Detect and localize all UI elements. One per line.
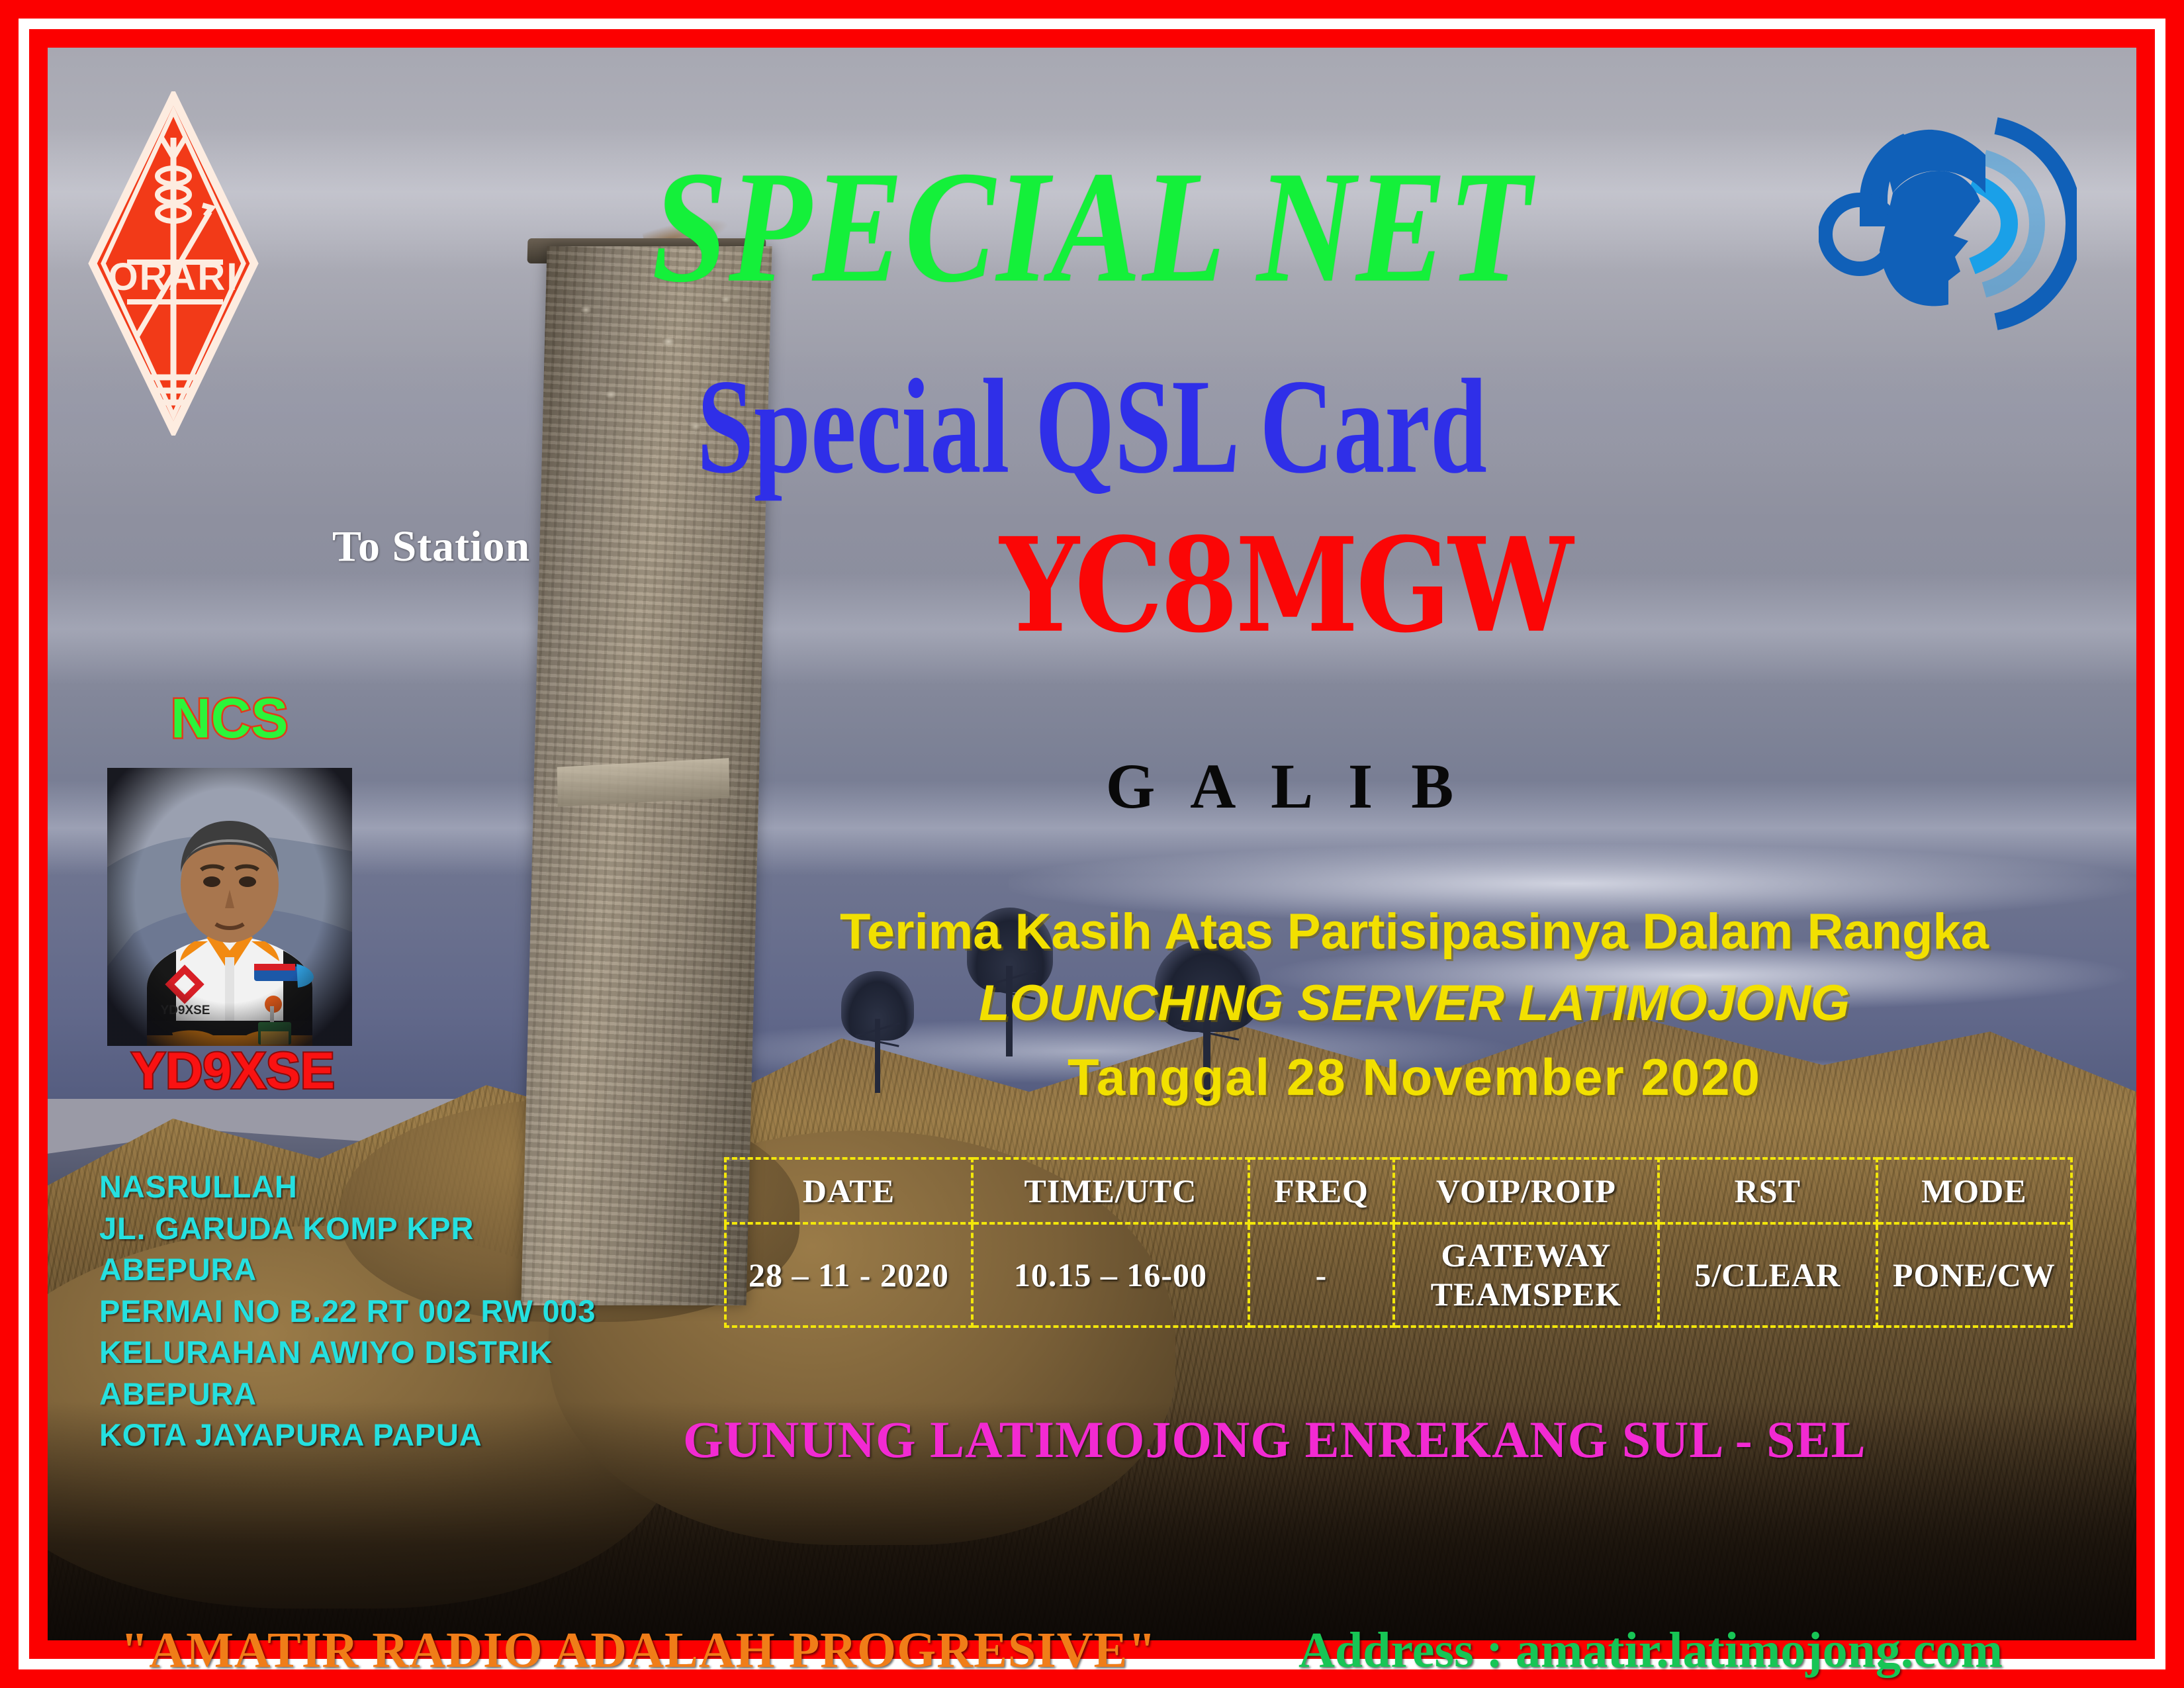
address-line: KELURAHAN AWIYO DISTRIK [99,1332,596,1374]
column-header-rst: RST [1659,1158,1877,1223]
to-station-label: To Station [332,522,530,572]
qso-log-table: DATE TIME/UTC FREQ VOIP/ROIP RST MODE 28… [724,1157,2073,1328]
cell-date: 28 – 11 - 2020 [725,1223,972,1327]
cell-time: 10.15 – 16-00 [972,1223,1249,1327]
operator-callsign: YD9XSE [127,1041,339,1101]
page-subtitle: Special QSL Card [131,359,2053,494]
address-line: NASRULLAH [99,1166,596,1208]
cell-voip-line1: GATEWAY [1395,1236,1657,1275]
table-header-row: DATE TIME/UTC FREQ VOIP/ROIP RST MODE [725,1158,2071,1223]
event-date-line: Tanggal 28 November 2020 [749,1047,2079,1107]
event-line: LOUNCHING SERVER LATIMOJONG [749,974,2079,1032]
address-line: JL. GARUDA KOMP KPR [99,1208,596,1250]
thanks-line: Terima Kasih Atas Partisipasinya Dalam R… [749,903,2079,961]
web-address: Address : amatir.latimojong.com [1298,1622,2003,1679]
station-operator-name: G A L I B [971,749,1600,823]
address-line: PERMAI NO B.22 RT 002 RW 003 [99,1291,596,1333]
cell-mode: PONE/CW [1877,1223,2071,1327]
qsl-card: ORARI SPECIAL NET Special QSL Card To St… [0,0,2184,1688]
column-header-voip: VOIP/ROIP [1394,1158,1659,1223]
page-title: SPECIAL NET [48,147,2136,307]
address-line: KOTA JAYAPURA PAPUA [99,1415,596,1456]
table-row: 28 – 11 - 2020 10.15 – 16-00 - GATEWAY T… [725,1223,2071,1327]
cell-voip: GATEWAY TEAMSPEK [1394,1223,1659,1327]
column-header-time: TIME/UTC [972,1158,1249,1223]
station-address: NASRULLAH JL. GARUDA KOMP KPR ABEPURA PE… [99,1166,596,1456]
motto-text: "AMATIR RADIO ADALAH PROGRESIVE" [120,1622,1156,1679]
ncs-label: NCS [171,686,288,751]
location-line: GUNUNG LATIMOJONG ENREKANG SUL - SEL [683,1410,1940,1470]
column-header-freq: FREQ [1249,1158,1394,1223]
cell-rst: 5/CLEAR [1659,1223,1877,1327]
cell-freq: - [1249,1223,1394,1327]
operator-portrait: YD9XSE [107,768,352,1046]
column-header-mode: MODE [1877,1158,2071,1223]
address-line: ABEPURA [99,1374,596,1415]
address-line: ABEPURA [99,1249,596,1291]
cell-voip-line2: TEAMSPEK [1395,1275,1657,1314]
station-callsign: YC8MGW [983,521,1587,651]
column-header-date: DATE [725,1158,972,1223]
